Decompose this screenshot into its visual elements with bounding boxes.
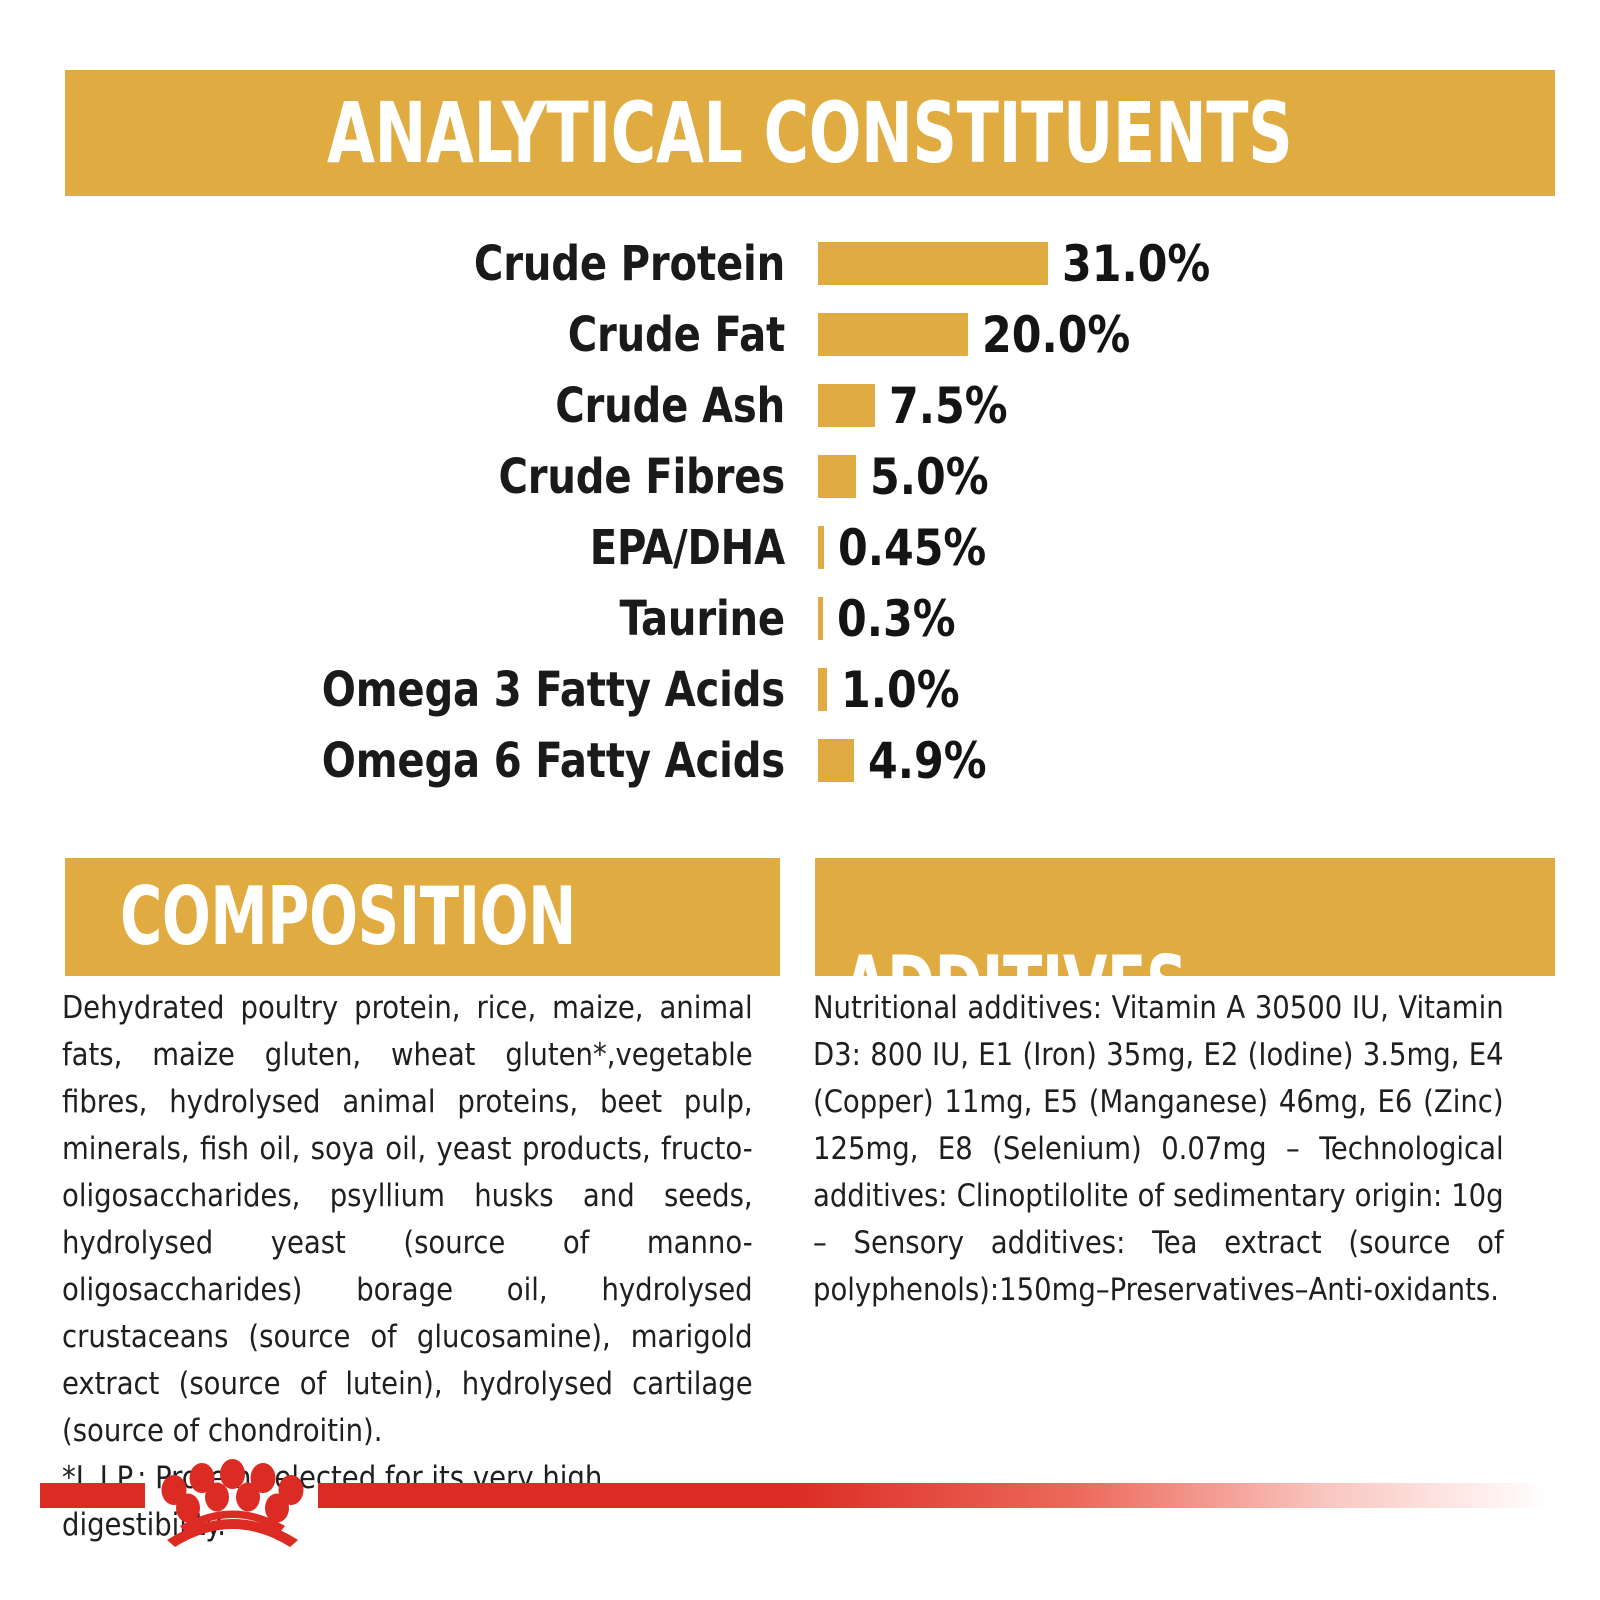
chart-row-bar-group: 20.0% xyxy=(818,310,1138,360)
chart-bar xyxy=(818,242,1048,285)
chart-bar xyxy=(818,455,856,498)
chart-row: Taurine0.3% xyxy=(0,583,1600,654)
chart-row-label: Taurine xyxy=(55,595,785,643)
chart-bar xyxy=(818,313,968,356)
chart-row: Crude Fibres5.0% xyxy=(0,441,1600,512)
chart-row-bar-group: 7.5% xyxy=(818,381,1014,431)
chart-row-bar-group: 0.3% xyxy=(818,594,962,644)
chart-row-bar-group: 0.45% xyxy=(818,523,994,573)
chart-value-label: 31.0% xyxy=(1062,239,1210,289)
chart-row-bar-group: 5.0% xyxy=(818,452,995,502)
additives-paragraph: Nutritional additives: Vitamin A 30500 I… xyxy=(813,985,1504,1314)
chart-value-label: 5.0% xyxy=(870,452,989,502)
chart-row-label: Omega 3 Fatty Acids xyxy=(55,666,785,714)
composition-header: COMPOSITION xyxy=(65,858,780,976)
footer-bar-right xyxy=(318,1483,1548,1508)
chart-row-bar-group: 31.0% xyxy=(818,239,1218,289)
chart-row-label: Crude Ash xyxy=(55,382,785,430)
chart-row-label: Crude Fat xyxy=(55,311,785,359)
chart-row: Crude Ash7.5% xyxy=(0,370,1600,441)
chart-row: Omega 3 Fatty Acids1.0% xyxy=(0,654,1600,725)
chart-bar xyxy=(818,597,823,640)
product-label-panel: ANALYTICAL CONSTITUENTS Crude Protein31.… xyxy=(0,0,1600,1600)
chart-value-label: 4.9% xyxy=(868,736,987,786)
additives-body-text: Nutritional additives: Vitamin A 30500 I… xyxy=(813,985,1504,1314)
chart-bar xyxy=(818,526,824,569)
chart-bar xyxy=(818,384,875,427)
chart-row: EPA/DHA0.45% xyxy=(0,512,1600,583)
chart-row-label: Omega 6 Fatty Acids xyxy=(55,737,785,785)
additives-header: ADDITIVES (per kg) xyxy=(815,858,1555,976)
chart-value-label: 1.0% xyxy=(841,665,960,715)
chart-row: Omega 6 Fatty Acids4.9% xyxy=(0,725,1600,796)
chart-row-label: EPA/DHA xyxy=(55,524,785,572)
chart-value-label: 0.3% xyxy=(837,594,956,644)
composition-paragraph: Dehydrated poultry protein, rice, maize,… xyxy=(62,985,753,1455)
analytical-constituents-title: ANALYTICAL CONSTITUENTS xyxy=(327,91,1292,175)
chart-value-label: 0.45% xyxy=(838,523,986,573)
chart-row: Crude Protein31.0% xyxy=(0,228,1600,299)
chart-row-bar-group: 4.9% xyxy=(818,736,993,786)
chart-row: Crude Fat20.0% xyxy=(0,299,1600,370)
analytical-constituents-header: ANALYTICAL CONSTITUENTS xyxy=(65,70,1555,196)
composition-title: COMPOSITION xyxy=(120,877,576,957)
analytical-constituents-chart: Crude Protein31.0%Crude Fat20.0%Crude As… xyxy=(0,228,1600,796)
chart-bar xyxy=(818,668,827,711)
chart-bar xyxy=(818,739,854,782)
additives-title: ADDITIVES xyxy=(843,946,1187,976)
brand-footer xyxy=(0,1440,1600,1550)
royal-canin-crown-paw-icon xyxy=(145,1440,320,1550)
chart-value-label: 7.5% xyxy=(889,381,1008,431)
chart-row-bar-group: 1.0% xyxy=(818,665,966,715)
additives-subtitle: (per kg) xyxy=(1282,974,1422,976)
footer-bar-left xyxy=(40,1483,145,1508)
chart-row-label: Crude Protein xyxy=(55,240,785,288)
chart-value-label: 20.0% xyxy=(982,310,1130,360)
chart-row-label: Crude Fibres xyxy=(55,453,785,501)
